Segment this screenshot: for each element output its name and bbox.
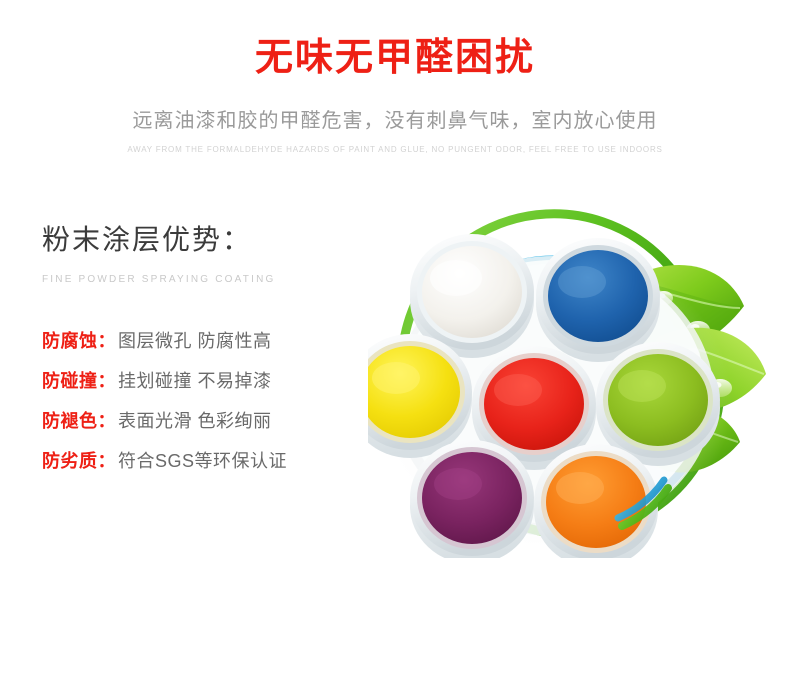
powder-coating-product-image [368,188,768,558]
page-title: 无味无甲醛困扰 [0,36,790,82]
feature-value: 符合SGS等环保认证 [118,447,287,473]
feature-value: 表面光滑 色彩绚丽 [118,407,272,433]
section-heading-english: FINE POWDER SPRAYING COATING [42,274,372,285]
feature-key: 防碰撞： [42,367,116,393]
feature-key: 防褪色： [42,407,116,433]
feature-value: 图层微孔 防腐性高 [118,327,272,353]
list-item: 防腐蚀： 图层微孔 防腐性高 [42,327,372,353]
product-detail-page: 无味无甲醛困扰 远离油漆和胶的甲醛危害，没有刺鼻气味，室内放心使用 AWAY F… [0,0,790,673]
orange-powder-jar [534,444,658,558]
feature-key: 防劣质： [42,447,116,473]
feature-key: 防腐蚀： [42,327,116,353]
advantages-column: 粉末涂层优势： FINE POWDER SPRAYING COATING 防腐蚀… [42,218,372,487]
english-tagline: AWAY FROM THE FORMALDEHYDE HAZARDS OF PA… [0,145,790,154]
section-heading: 粉末涂层优势： [42,218,372,258]
feature-value: 挂划碰撞 不易掉漆 [118,367,272,393]
page-subtitle: 远离油漆和胶的甲醛危害，没有刺鼻气味，室内放心使用 [0,104,790,133]
feature-list: 防腐蚀： 图层微孔 防腐性高 防碰撞： 挂划碰撞 不易掉漆 防褪色： 表面光滑 … [42,327,372,473]
header-block: 无味无甲醛困扰 远离油漆和胶的甲醛危害，没有刺鼻气味，室内放心使用 AWAY F… [0,0,790,154]
blue-powder-jar [536,238,660,362]
list-item: 防碰撞： 挂划碰撞 不易掉漆 [42,367,372,393]
list-item: 防劣质： 符合SGS等环保认证 [42,447,372,473]
purple-powder-jar [410,440,534,558]
list-item: 防褪色： 表面光滑 色彩绚丽 [42,407,372,433]
